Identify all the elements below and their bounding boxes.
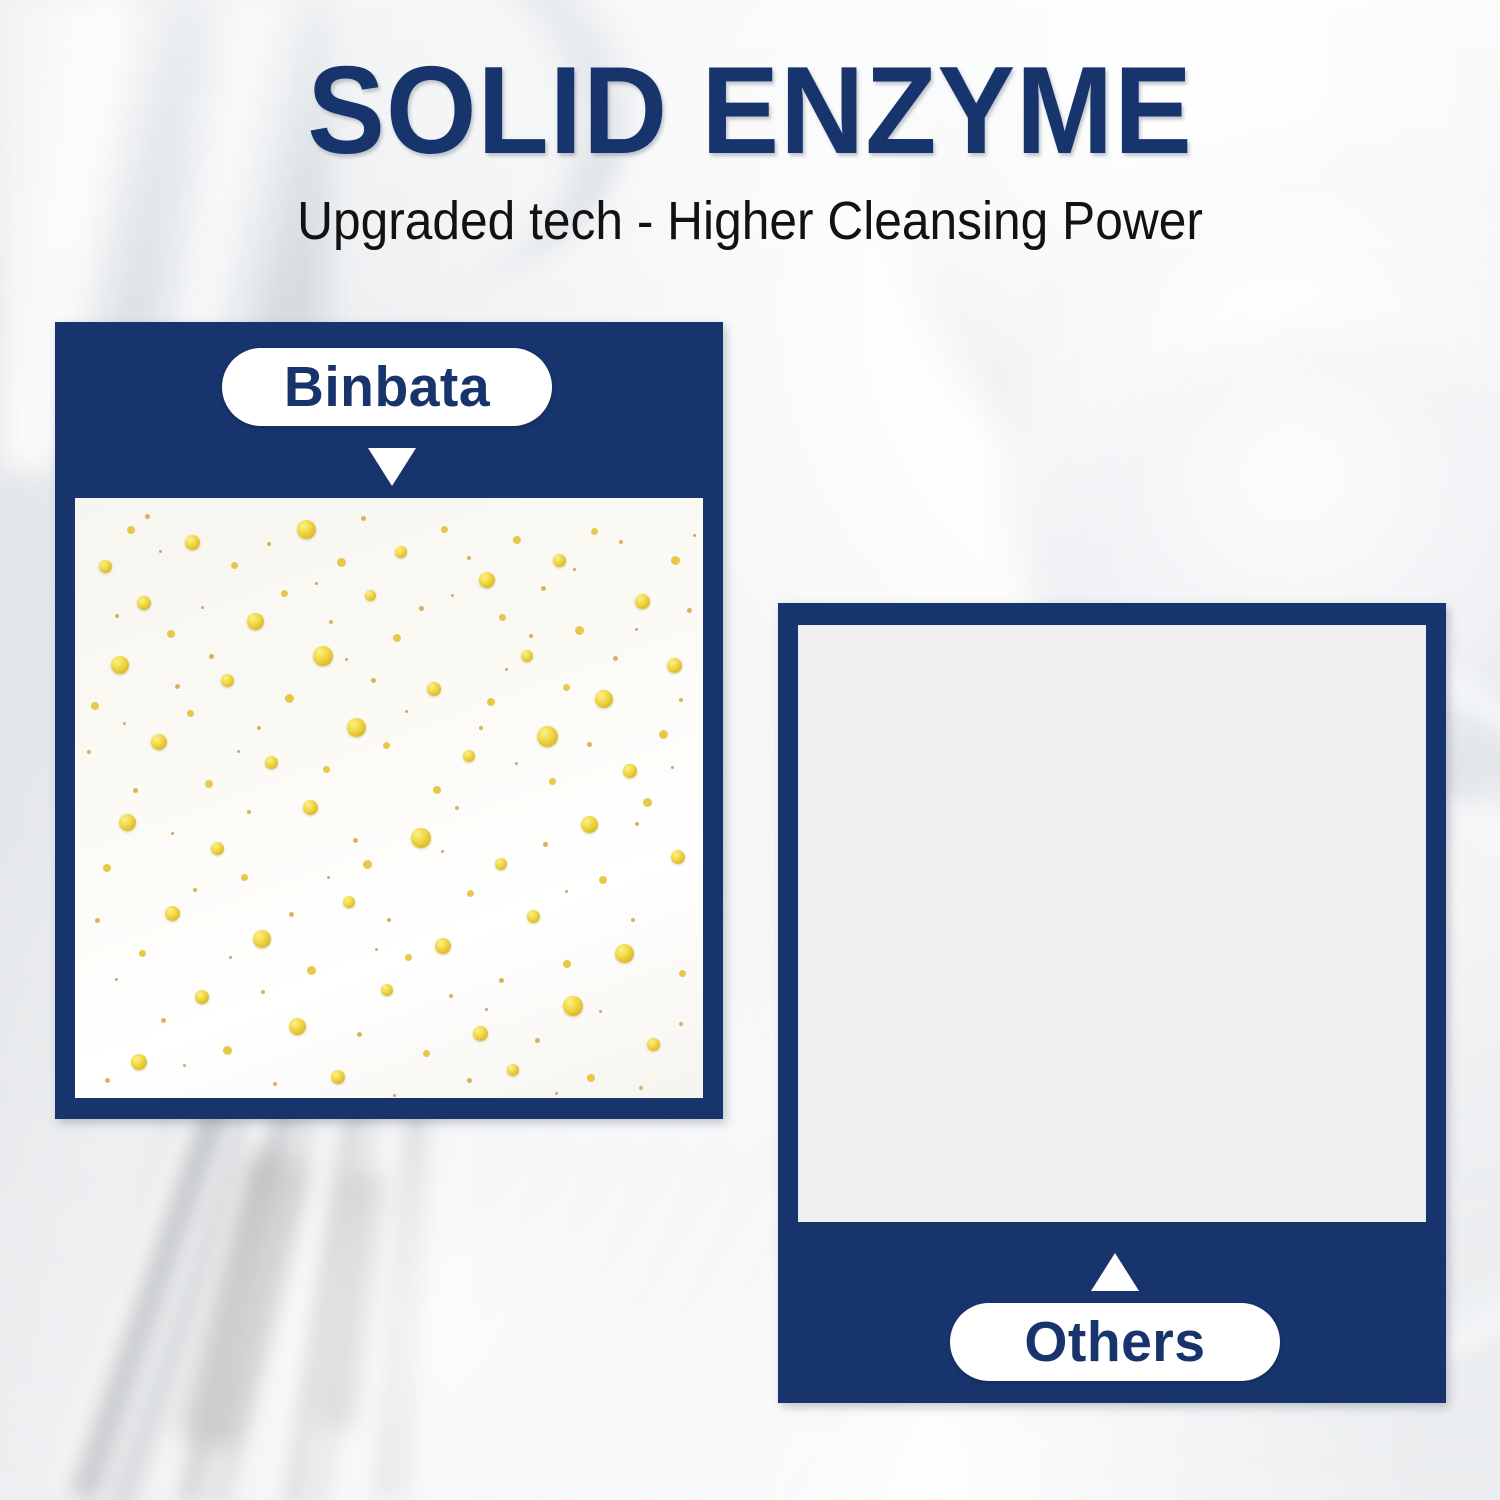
brand-badge-binbata: Binbata bbox=[222, 348, 552, 426]
product-comparison-poster: SOLID ENZYME Upgraded tech - Higher Clea… bbox=[0, 0, 1500, 1500]
page-subtitle: Upgraded tech - Higher Cleansing Power bbox=[60, 174, 1440, 252]
brand-badge-label: Binbata bbox=[227, 348, 547, 426]
no-enzyme-empty-photo bbox=[798, 625, 1426, 1222]
triangle-down-icon bbox=[368, 448, 416, 486]
enzyme-granule-photo bbox=[75, 498, 703, 1098]
others-badge-label: Others bbox=[955, 1303, 1275, 1381]
brand-badge-others: Others bbox=[950, 1303, 1280, 1381]
page-title: SOLID ENZYME bbox=[45, 0, 1455, 174]
triangle-up-icon bbox=[1091, 1253, 1139, 1291]
comparison-panel-others: Others bbox=[778, 603, 1446, 1403]
comparison-panel-binbata: Binbata bbox=[55, 322, 723, 1119]
poster-header: SOLID ENZYME Upgraded tech - Higher Clea… bbox=[0, 0, 1500, 252]
